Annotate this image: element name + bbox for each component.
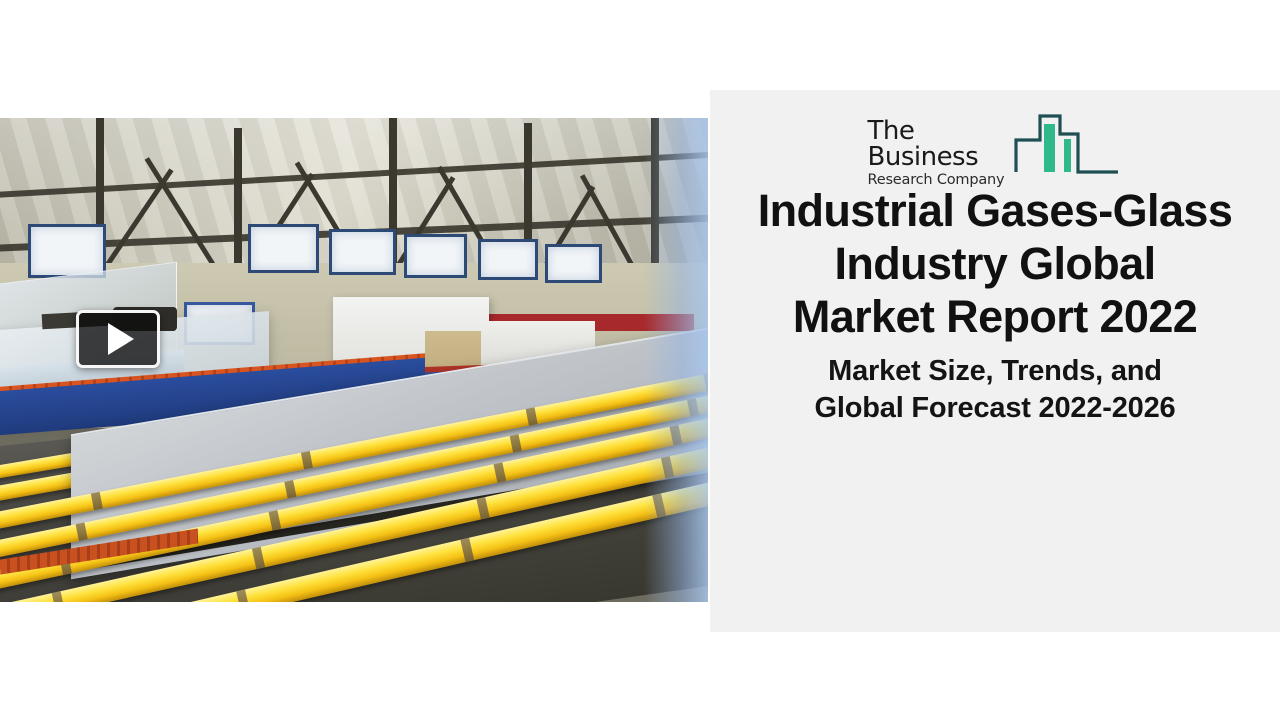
logo-bar-chart-icon — [1014, 106, 1122, 178]
company-logo: The Business Research Company — [868, 106, 1123, 178]
report-title: Industrial Gases-Glass Industry Global M… — [718, 184, 1272, 343]
report-title-line-2: Industry Global — [834, 238, 1155, 289]
slide-canvas: The Business Research Company Industrial… — [0, 0, 1280, 720]
report-heading-block: Industrial Gases-Glass Industry Global M… — [710, 184, 1280, 426]
factory-window — [329, 229, 396, 275]
play-button[interactable] — [76, 310, 160, 368]
logo-line-1: The Business — [868, 118, 1020, 170]
logo-line-2: Research Company — [868, 170, 1020, 191]
play-triangle-icon — [108, 323, 134, 355]
factory-window — [478, 239, 538, 280]
report-subtitle: Market Size, Trends, and Global Forecast… — [718, 353, 1272, 426]
report-title-line-1: Industrial Gases-Glass — [758, 185, 1233, 236]
report-subtitle-line-1: Market Size, Trends, and — [828, 355, 1162, 387]
logo-wordmark: The Business Research Company — [868, 118, 1020, 191]
report-title-line-3: Market Report 2022 — [793, 291, 1197, 342]
video-player[interactable] — [0, 118, 708, 602]
report-subtitle-line-2: Global Forecast 2022-2026 — [815, 392, 1176, 424]
factory-window — [545, 244, 602, 283]
factory-window — [28, 224, 106, 277]
photo-edge-glow — [644, 118, 708, 602]
factory-window — [404, 234, 468, 278]
factory-window — [248, 224, 319, 272]
report-text-panel: The Business Research Company Industrial… — [710, 90, 1280, 632]
